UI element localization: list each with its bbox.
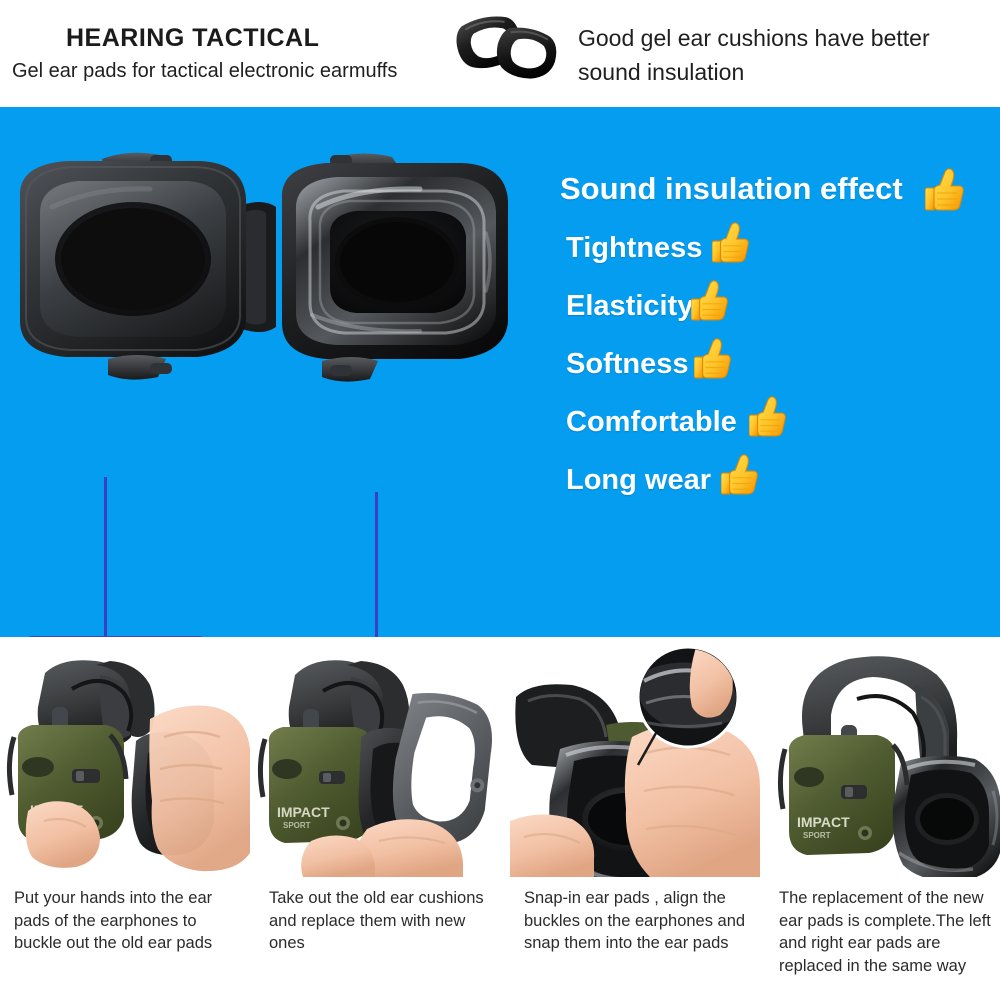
page-title: HEARING TACTICAL <box>66 24 319 53</box>
feature-label: Sound insulation effect <box>560 171 903 207</box>
thumbs-up-icon <box>712 221 750 263</box>
feature-item-elasticity: Elasticity <box>566 285 729 327</box>
feature-item-sound-insulation-effect: Sound insulation effect <box>560 167 965 211</box>
svg-text:SPORT: SPORT <box>283 821 311 830</box>
feature-item-long-wear: Long wear <box>566 459 759 501</box>
thumbs-up-icon <box>749 395 787 437</box>
gel-ear-cushions-pair-icon <box>452 10 570 84</box>
feature-item-comfortable: Comfortable <box>566 401 787 443</box>
header-claim-text: Good gel ear cushions have better sound … <box>578 21 998 89</box>
feature-label: Elasticity <box>566 290 693 323</box>
thumbs-up-icon <box>721 453 759 495</box>
snap-in-gel-ear-pad-photo <box>510 645 760 877</box>
leader-line-gel <box>375 492 378 640</box>
old-ear-cushion-removed-photo: IMPACT SPORT <box>255 645 505 877</box>
step-caption: The replacement of the new ear pads is c… <box>779 887 999 977</box>
page-subtitle: Gel ear pads for tactical electronic ear… <box>12 60 397 83</box>
svg-text:SPORT: SPORT <box>803 831 831 840</box>
feature-label: Long wear <box>566 464 711 497</box>
open-earmuff-cups-photo <box>0 137 540 467</box>
completed-earmuff-photo: IMPACT SPORT <box>765 645 1000 877</box>
step-3: Snap-in ear pads , align the buckles on … <box>510 637 760 1000</box>
infographic-page: HEARING TACTICAL Gel ear pads for tactic… <box>0 0 1000 1000</box>
feature-panel: Sponge ear pads Gel ear pads Sound insul… <box>0 107 1000 637</box>
svg-text:IMPACT: IMPACT <box>277 804 330 820</box>
thumbs-up-icon <box>925 167 965 211</box>
hand-removing-old-ear-pad-photo: IMPACT SPORT <box>0 645 250 877</box>
thumbs-up-icon <box>691 279 729 321</box>
feature-label: Comfortable <box>566 406 737 439</box>
header-bar: HEARING TACTICAL Gel ear pads for tactic… <box>0 0 1000 107</box>
instruction-steps-row: IMPACT SPORT <box>0 637 1000 1000</box>
thumbs-up-icon <box>694 337 732 379</box>
svg-text:IMPACT: IMPACT <box>797 814 850 830</box>
feature-list: Sound insulation effect T <box>556 127 996 477</box>
feature-item-tightness: Tightness <box>566 227 750 269</box>
step-2: IMPACT SPORT <box>255 637 505 1000</box>
feature-label: Tightness <box>566 232 702 265</box>
feature-label: Softness <box>566 348 688 381</box>
feature-item-softness: Softness <box>566 343 732 385</box>
leader-line-sponge <box>104 477 107 639</box>
step-4: IMPACT SPORT <box>765 637 1000 1000</box>
step-caption: Take out the old ear cushions and replac… <box>269 887 495 955</box>
step-1: IMPACT SPORT <box>0 637 250 1000</box>
step-caption: Put your hands into the ear pads of the … <box>14 887 240 955</box>
step-caption: Snap-in ear pads , align the buckles on … <box>524 887 750 955</box>
